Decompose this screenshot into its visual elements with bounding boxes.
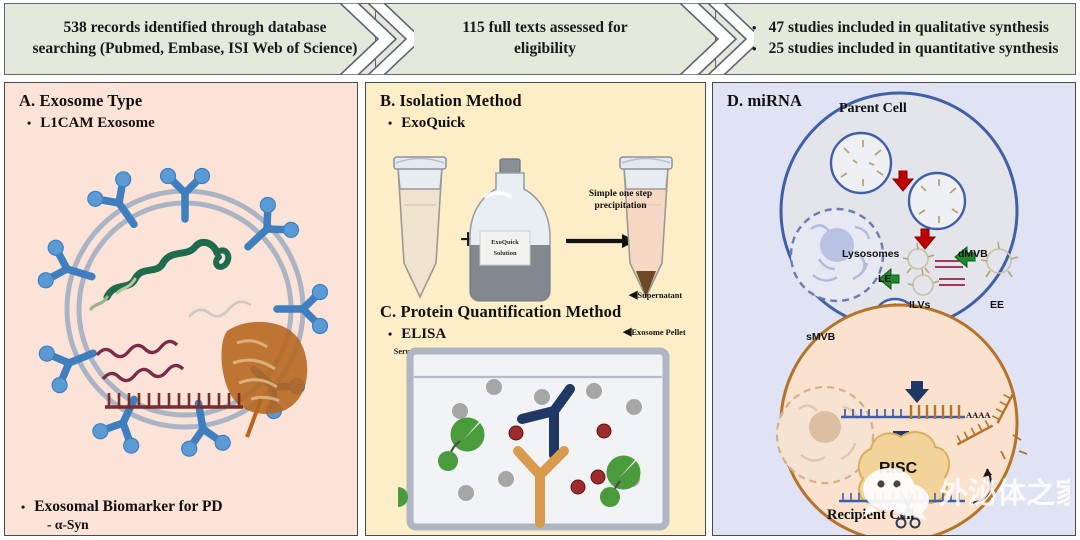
prisma-step-2-text: 115 full texts assessed for eligibility xyxy=(420,3,670,75)
smvb-label: sMVB xyxy=(806,331,835,343)
prisma-step-3-item-1: • 25 studies included in quantitative sy… xyxy=(752,39,1058,60)
prisma-step-1-line-2: searching (Pubmed, Embase, ISI Web of Sc… xyxy=(33,39,358,60)
mrna-polya-tail-label: AAAA xyxy=(966,410,991,420)
arrow-label-line-1: Simple one step xyxy=(563,189,678,201)
watermark-text: 外泌体之家 xyxy=(939,476,1070,510)
bullet-icon: • xyxy=(27,117,31,129)
bullet-icon: • xyxy=(388,328,392,340)
panel-a-biomarker-title: Exosomal Biomarker for PD xyxy=(34,498,222,516)
bottle-label-line-2: Solution xyxy=(493,250,517,257)
ilvs-label: ILVs xyxy=(909,299,930,311)
panel-bc-isolation-and-quantification: B. Isolation Method • ExoQuick + xyxy=(365,82,706,536)
panel-c-item: • ELISA xyxy=(388,326,621,343)
panel-c-title: C. Protein Quantification Method xyxy=(380,302,621,322)
prisma-step-3-item-1-label: 25 studies included in quantitative synt… xyxy=(769,39,1059,60)
panel-b-item-label: ExoQuick xyxy=(401,115,465,132)
dmvb-label: dMVB xyxy=(958,248,988,260)
panel-a-biomarker-0: - α-Syn xyxy=(47,516,223,535)
panel-b-header: B. Isolation Method • ExoQuick xyxy=(380,91,522,132)
bullet-icon: • xyxy=(388,117,392,129)
prisma-step-3-item-0: • 47 studies included in qualitative syn… xyxy=(752,18,1049,39)
panel-c-header: C. Protein Quantification Method • ELISA xyxy=(380,302,621,343)
panel-a-item-label: L1CAM Exosome xyxy=(40,115,155,132)
l1cam-exosome-illustration xyxy=(11,141,358,491)
arrow-label-line-2: precipitation xyxy=(563,201,678,213)
panel-a-biomarker-block: • Exosomal Biomarker for PD - α-Syn - Ta… xyxy=(21,498,223,536)
bullet-icon: • xyxy=(752,40,757,58)
bullet-icon: • xyxy=(752,19,757,37)
le-label: LE xyxy=(878,273,891,285)
bullet-icon: • xyxy=(21,500,25,515)
prisma-step-1-text: 538 records identified through database … xyxy=(22,3,368,75)
exoquick-bottle-icon: ExoQuick Solution xyxy=(470,159,550,301)
panel-a-exosome-type: A. Exosome Type • L1CAM Exosome xyxy=(4,82,358,536)
lysosomes-label: Lysosomes xyxy=(842,248,899,260)
prisma-step-3-item-0-label: 47 studies included in qualitative synth… xyxy=(769,18,1049,39)
panel-a-item: • L1CAM Exosome xyxy=(27,115,155,132)
watermark: 外泌体之家 xyxy=(855,455,1070,525)
precipitation-arrow-caption: Simple one step precipitation xyxy=(563,189,678,213)
panel-b-title: B. Isolation Method xyxy=(380,91,522,111)
prisma-step-3-text: • 47 studies included in qualitative syn… xyxy=(752,3,1072,75)
parent-cell-label: Parent Cell xyxy=(839,101,907,117)
prisma-step-2-line-1: 115 full texts assessed for xyxy=(462,18,627,39)
result-tube-icon xyxy=(620,157,672,297)
exosome-pellet-annotation: ◀Exosome Pellet xyxy=(623,325,686,338)
panel-a-biomarker-1: - Tau xyxy=(47,535,223,536)
panel-a-biomarker-title-row: • Exosomal Biomarker for PD xyxy=(21,498,223,516)
serum-tube-icon xyxy=(394,157,446,297)
fibril-icon xyxy=(97,341,183,380)
supernatant-annotation: ◀Supernatant xyxy=(629,288,682,301)
protein-green-icon xyxy=(91,242,228,309)
ee-label: EE xyxy=(990,299,1004,311)
bottle-label-line-1: ExoQuick xyxy=(491,239,519,246)
protein-brown-icon xyxy=(221,322,307,437)
prisma-flow-banner: 538 records identified through database … xyxy=(4,3,1076,75)
lysosome-icon xyxy=(831,133,891,193)
elisa-well-illustration xyxy=(398,345,678,535)
wechat-icon xyxy=(863,468,929,521)
peptide-squiggle-icon xyxy=(189,302,251,317)
prisma-exosome-figure: 538 records identified through database … xyxy=(0,0,1080,540)
prisma-step-2-line-2: eligibility xyxy=(514,39,576,60)
panel-c-item-label: ELISA xyxy=(401,326,446,343)
dmvb-icon xyxy=(909,173,965,229)
panel-a-header: A. Exosome Type • L1CAM Exosome xyxy=(19,91,155,132)
panel-b-item: • ExoQuick xyxy=(388,115,522,132)
panel-a-title: A. Exosome Type xyxy=(19,91,155,111)
precipitation-arrow-icon xyxy=(566,234,636,248)
prisma-step-1-line-1: 538 records identified through database xyxy=(64,18,327,39)
